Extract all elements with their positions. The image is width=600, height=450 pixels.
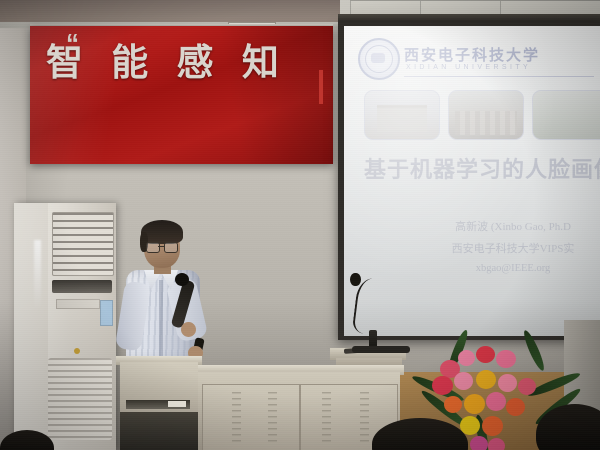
flower bbox=[506, 398, 525, 416]
presentation-photo-scene: “ 智 能 感 知 西安电子科技大学 XIDIAN UNIVERSITY 基于机… bbox=[0, 0, 600, 450]
slide-university-name-cn: 西安电子科技大学 bbox=[404, 44, 540, 65]
flower bbox=[444, 396, 462, 413]
slide-university-name-en: XIDIAN UNIVERSITY bbox=[406, 64, 531, 71]
flower bbox=[464, 394, 485, 414]
flower bbox=[476, 346, 495, 363]
air-conditioner-energy-label bbox=[100, 300, 113, 326]
air-conditioner-vent-grill bbox=[52, 212, 114, 276]
flower bbox=[432, 376, 453, 395]
flower bbox=[458, 350, 475, 366]
air-conditioner-intake-grill bbox=[48, 358, 112, 440]
slide-email: xbgao@IEEE.org bbox=[408, 263, 600, 274]
eyeglass-lens bbox=[164, 242, 178, 253]
slide-divider bbox=[404, 76, 594, 77]
flower bbox=[482, 416, 503, 436]
flower bbox=[518, 378, 536, 395]
cabinet-door[interactable] bbox=[202, 384, 300, 450]
air-conditioner-display-panel bbox=[56, 299, 100, 309]
cabinet-vent-dots bbox=[232, 392, 241, 444]
handheld-microphone-head bbox=[175, 273, 189, 286]
lectern-shelf-highlight bbox=[168, 401, 186, 407]
lectern-lower-shadow bbox=[120, 412, 198, 450]
slide-thumbnail bbox=[364, 90, 440, 140]
speaker-hand-holding-microphone bbox=[181, 322, 196, 337]
slide-author-name: 高新波 (Xinbo Gao, Ph.D bbox=[408, 218, 600, 234]
cabinet-vent-dots bbox=[360, 392, 369, 444]
flower bbox=[486, 392, 506, 411]
slide-affiliation: 西安电子科技大学VIPS实 bbox=[408, 240, 600, 256]
eyeglasses-icon bbox=[146, 242, 178, 251]
slide-thumbnail bbox=[448, 90, 524, 140]
air-conditioner-highlight bbox=[34, 240, 41, 310]
flower bbox=[488, 438, 505, 450]
flower bbox=[476, 370, 496, 389]
air-conditioner-indicator bbox=[74, 348, 80, 354]
air-conditioner-outlet bbox=[52, 280, 112, 293]
gooseneck-microphone-base bbox=[352, 346, 410, 353]
slide-thumbnail-row bbox=[364, 90, 600, 138]
flower bbox=[498, 374, 517, 392]
speaker-shirt-placket bbox=[159, 280, 163, 360]
ceiling-beam bbox=[0, 0, 340, 22]
cabinet-vent-dots bbox=[322, 392, 331, 444]
slide-thumbnail bbox=[532, 90, 600, 140]
flower bbox=[496, 350, 516, 368]
xidian-university-seal-icon bbox=[358, 38, 400, 80]
flower bbox=[470, 436, 488, 450]
palm-leaf bbox=[521, 329, 547, 373]
cabinet-vent-dots bbox=[268, 392, 277, 444]
slide-author-block: 高新波 (Xinbo Gao, Ph.D 西安电子科技大学VIPS实 xbgao… bbox=[408, 218, 600, 274]
eyeglass-lens bbox=[146, 242, 160, 253]
banner-title-text: 智 能 感 知 bbox=[46, 28, 336, 90]
gooseneck-microphone-head bbox=[350, 273, 361, 286]
flower bbox=[454, 372, 473, 390]
air-conditioner-side-panel bbox=[14, 203, 48, 450]
slide-title: 基于机器学习的人脸画像 bbox=[364, 152, 600, 184]
